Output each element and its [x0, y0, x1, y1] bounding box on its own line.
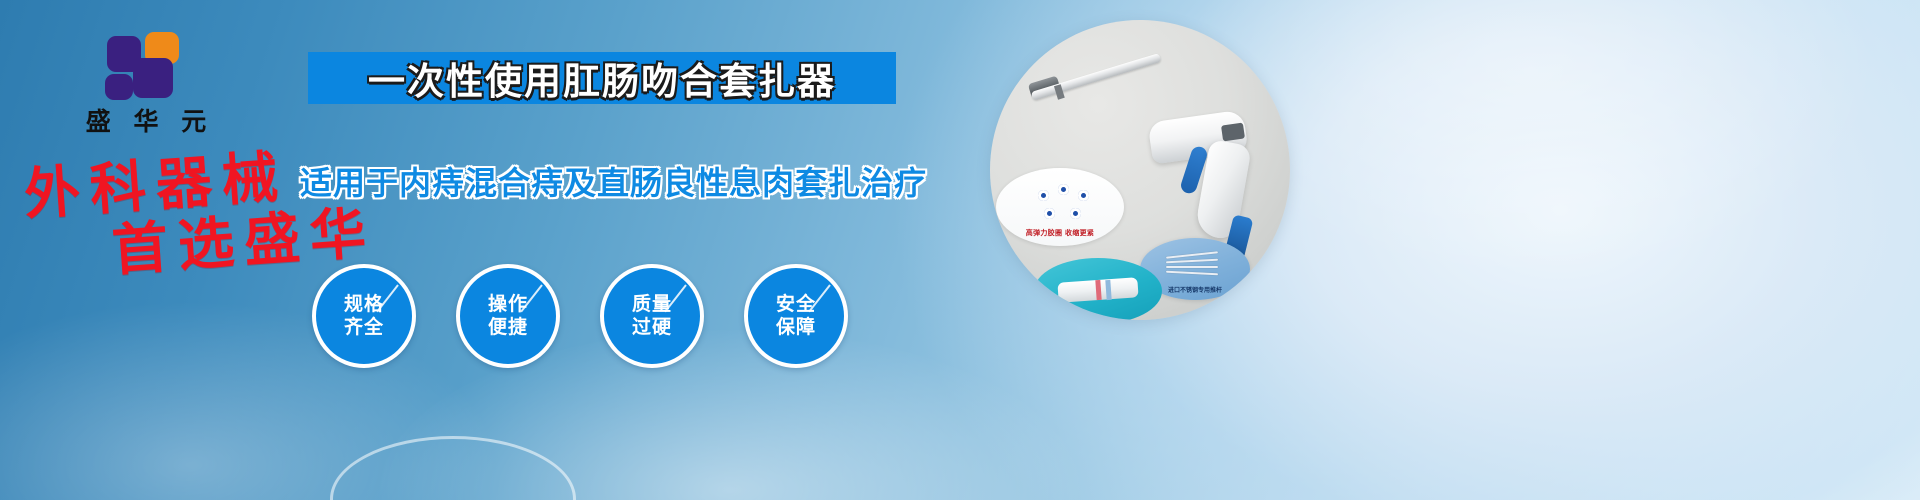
badge-label-line2: 保障 — [776, 316, 816, 339]
badge-label-line2: 便捷 — [488, 316, 528, 339]
product-photo: 高弹力胶圈 收缩更紧 进口不锈钢专用推杆 — [990, 20, 1290, 320]
badge-label-line1: 操作 — [488, 293, 528, 316]
feature-badge-operation[interactable]: 操作 便捷 — [456, 264, 560, 368]
badge-label-line2: 过硬 — [632, 316, 672, 339]
feature-badge-quality[interactable]: 质量 过硬 — [600, 264, 704, 368]
feature-badge-safety[interactable]: 安全 保障 — [744, 264, 848, 368]
badge-label-line2: 齐全 — [344, 316, 384, 339]
needle — [1166, 266, 1218, 268]
page-title: 一次性使用肛肠吻合套扎器 — [368, 51, 836, 105]
feature-badge-specs[interactable]: 规格 齐全 — [312, 264, 416, 368]
brand-logo[interactable]: 盛 华 元 — [56, 28, 236, 136]
headline-title-bar: 一次性使用肛肠吻合套扎器 — [308, 52, 896, 104]
band-dot — [1078, 190, 1089, 201]
device-control-panel — [1221, 123, 1245, 142]
inset-bands-caption: 高弹力胶圈 收缩更紧 — [996, 228, 1124, 238]
band-dot — [1058, 184, 1069, 195]
headline-subtitle: 适用于内痔混合痔及直肠良性息肉套扎治疗 — [300, 158, 900, 204]
band-dot — [1070, 208, 1081, 219]
brand-name: 盛 华 元 — [56, 108, 236, 136]
band-dot — [1044, 208, 1055, 219]
band-dot — [1038, 190, 1049, 201]
logo-block-3 — [133, 58, 173, 98]
badge-label-line1: 质量 — [632, 293, 672, 316]
inset-tube — [1034, 258, 1162, 320]
logo-block-4 — [105, 74, 133, 100]
needle — [1166, 251, 1218, 258]
decorative-arc — [330, 436, 576, 500]
needle — [1166, 259, 1218, 264]
badge-label-line1: 安全 — [776, 293, 816, 316]
badge-label-line1: 规格 — [344, 293, 384, 316]
needle — [1166, 271, 1218, 276]
inset-ligation-bands: 高弹力胶圈 收缩更紧 — [996, 168, 1124, 246]
promo-banner: 盛 华 元 外科器械 首选盛华 一次性使用肛肠吻合套扎器 适用于内痔混合痔及直肠… — [0, 0, 1920, 500]
feature-badge-list: 规格 齐全 操作 便捷 质量 过硬 安全 保障 — [312, 264, 848, 368]
logo-mark-icon — [103, 28, 189, 102]
